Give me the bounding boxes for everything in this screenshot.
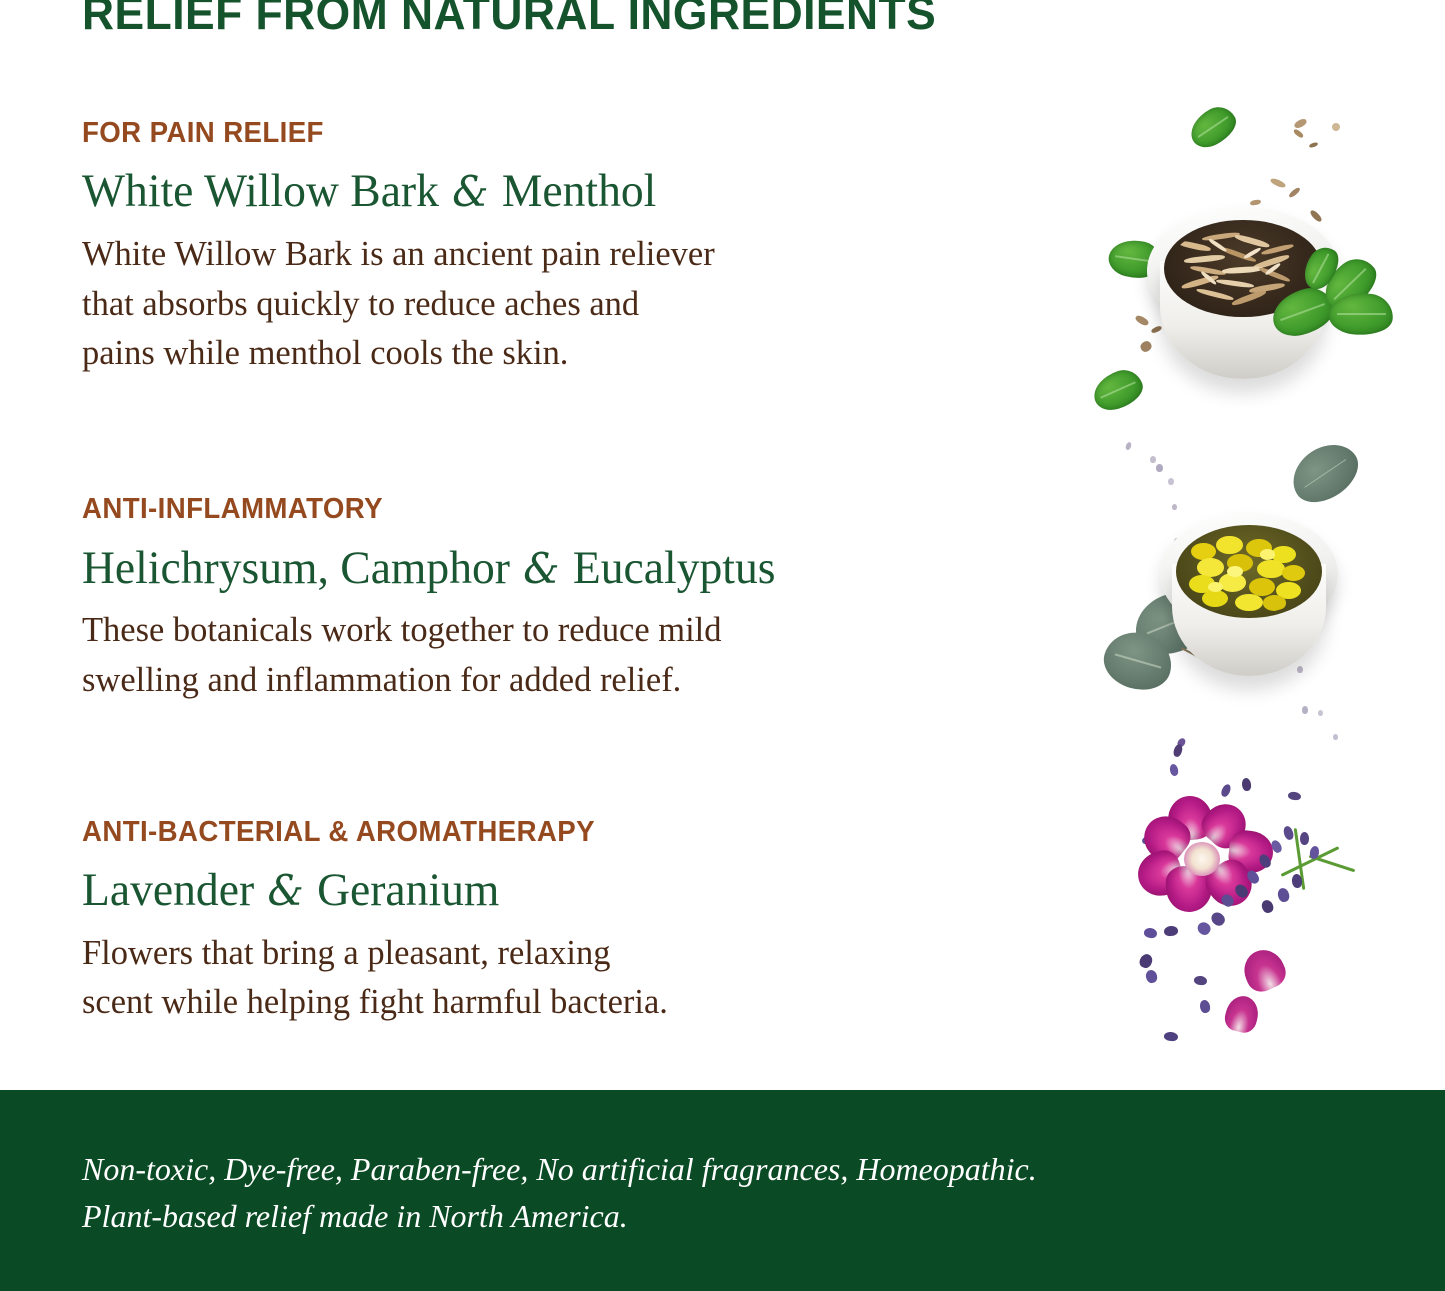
ingredient-name-lavender-geranium: Lavender & Geranium — [82, 865, 1013, 916]
ampersand-glyph: & — [266, 866, 306, 915]
footer-claims-text: Non-toxic, Dye-free, Paraben-free, No ar… — [82, 1146, 1037, 1241]
lavender-stem — [1294, 828, 1306, 890]
description-line: that absorbs quickly to reduce aches and — [82, 279, 998, 329]
section-description-pain-relief: White Willow Bark is an ancient pain rel… — [82, 229, 998, 378]
eucalyptus-leaf-icon — [1098, 625, 1179, 698]
mint-leaf-icon — [1315, 250, 1385, 317]
lavender-bud-icon — [1302, 706, 1308, 714]
lavender-bud-icon — [1150, 456, 1156, 463]
ingredient-section-pain-relief: FOR PAIN RELIEF White Willow Bark & Ment… — [82, 118, 1042, 378]
description-line: pains while menthol cools the skin. — [82, 328, 998, 378]
mint-leaf-icon — [1184, 101, 1242, 154]
ingredient-name-part: Helichrysum, Camphor — [82, 542, 521, 594]
eucalyptus-leaf-icon — [1282, 433, 1368, 514]
lavender-bud-icon — [1143, 927, 1158, 939]
lavender-bud-icon — [1174, 538, 1179, 545]
lavender-bud-icon — [1169, 763, 1179, 776]
flower-petal — [1227, 829, 1275, 875]
image-helichrysum-bowl — [1092, 438, 1445, 760]
lavender-bud-icon — [1195, 920, 1213, 937]
bark-bit — [1309, 142, 1319, 149]
lavender-bud-icon — [1172, 504, 1177, 510]
description-line: White Willow Bark is an ancient pain rel… — [82, 229, 998, 279]
bark-bit — [1293, 117, 1308, 129]
image-willow-bark-bowl — [1085, 95, 1445, 440]
lavender-bud-icon — [1172, 743, 1184, 758]
section-description-anti-bacterial: Flowers that bring a pleasant, relaxing … — [82, 928, 998, 1027]
lavender-bud-icon — [1144, 969, 1158, 985]
bowl-body — [1160, 261, 1325, 379]
image-geranium-lavender — [1102, 742, 1445, 1060]
bowl-rim — [1147, 207, 1339, 335]
section-description-anti-inflammatory: These botanicals work together to reduce… — [82, 605, 998, 704]
lavender-stem — [1281, 846, 1340, 877]
section-eyebrow-anti-bacterial: ANTI-BACTERIAL & AROMATHERAPY — [82, 817, 1013, 848]
lavender-bud-icon — [1245, 868, 1261, 885]
bark-bit — [1332, 123, 1340, 131]
description-line: These botanicals work together to reduce… — [82, 605, 998, 655]
ingredient-name-part: Lavender — [82, 864, 266, 916]
bark-bit — [1139, 339, 1154, 354]
flower-petal — [1199, 853, 1260, 914]
fallen-petal — [1222, 993, 1262, 1036]
lavender-bud-icon — [1282, 825, 1295, 841]
description-line: Flowers that bring a pleasant, relaxing — [82, 928, 998, 978]
mint-leaf-icon — [1268, 283, 1339, 341]
ampersand-glyph: & — [450, 167, 490, 216]
lavender-bud-icon — [1291, 874, 1302, 889]
ampersand-glyph: & — [521, 544, 561, 593]
lavender-bud-icon — [1241, 777, 1252, 791]
bowl-icon — [1160, 513, 1338, 635]
section-eyebrow-pain-relief: FOR PAIN RELIEF — [82, 118, 1013, 149]
bowl-icon — [1147, 207, 1339, 335]
footer-line: Non-toxic, Dye-free, Paraben-free, No ar… — [82, 1146, 1037, 1193]
bark-bit — [1293, 128, 1305, 139]
geranium-flower-icon — [1138, 800, 1278, 920]
flower-center — [1184, 842, 1220, 876]
ingredient-name-part: Eucalyptus — [562, 542, 776, 594]
mint-leaf-icon — [1327, 290, 1395, 338]
lavender-bud-icon — [1199, 999, 1211, 1014]
bowl-rim — [1160, 513, 1338, 635]
bowl-interior — [1176, 525, 1322, 618]
ingredients-infographic: RELIEF FROM NATURAL INGREDIENTS FOR PAIN… — [0, 0, 1445, 1291]
ingredient-name-part: Menthol — [490, 165, 656, 217]
lavender-bud-icon — [1257, 852, 1273, 869]
flower-petal — [1195, 795, 1254, 854]
helichrysum-fill — [1180, 529, 1317, 614]
mint-leaf-icon — [1089, 365, 1148, 415]
lavender-bud-icon — [1168, 478, 1174, 485]
lavender-bud-icon — [1260, 898, 1275, 914]
ingredient-name-part: Geranium — [306, 864, 500, 916]
bowl-body — [1172, 564, 1325, 676]
lavender-bud-icon — [1219, 892, 1236, 909]
lavender-bud-icon — [1276, 887, 1290, 903]
lavender-stem — [1309, 855, 1356, 873]
lavender-bud-icon — [1220, 783, 1233, 798]
flower-petal — [1165, 865, 1213, 913]
bark-bit — [1163, 318, 1172, 323]
bark-bit — [1288, 186, 1301, 198]
description-line: scent while helping fight harmful bacter… — [82, 977, 998, 1027]
lavender-bud-icon — [1125, 441, 1132, 450]
lavender-bud-icon — [1318, 710, 1323, 716]
flower-petal — [1166, 794, 1214, 842]
eucalyptus-stem — [1181, 647, 1201, 659]
footer-band: Non-toxic, Dye-free, Paraben-free, No ar… — [0, 1090, 1445, 1291]
bowl-interior — [1164, 220, 1321, 317]
ingredients-list: FOR PAIN RELIEF White Willow Bark & Ment… — [82, 118, 1042, 1027]
lavender-bud-icon — [1309, 845, 1320, 859]
lavender-bud-icon — [1300, 832, 1309, 845]
lavender-bud-icon — [1333, 734, 1338, 740]
mint-leaf-icon — [1296, 241, 1345, 294]
bark-bit — [1309, 209, 1323, 223]
ingredient-name-part: White Willow Bark — [82, 165, 450, 217]
lavender-bud-icon — [1209, 910, 1227, 928]
lavender-bud-icon — [1297, 666, 1303, 673]
ingredient-name-helichrysum-camphor-eucalyptus: Helichrysum, Camphor & Eucalyptus — [82, 543, 1013, 594]
bark-bit — [1269, 177, 1286, 189]
bark-bit — [1250, 199, 1262, 206]
lavender-bud-icon — [1270, 839, 1284, 855]
ingredient-section-anti-inflammatory: ANTI-INFLAMMATORY Helichrysum, Camphor &… — [82, 494, 1042, 704]
eucalyptus-leaf-icon — [1126, 582, 1220, 665]
flower-petal — [1132, 846, 1187, 901]
lavender-bud-icon — [1164, 1031, 1179, 1041]
bark-bit — [1134, 314, 1150, 327]
footer-line: Plant-based relief made in North America… — [82, 1193, 1037, 1240]
lavender-bud-icon — [1156, 464, 1163, 472]
lavender-bud-icon — [1193, 975, 1207, 986]
lavender-bud-icon — [1176, 737, 1187, 748]
page-title: RELIEF FROM NATURAL INGREDIENTS — [82, 0, 936, 40]
ingredient-section-anti-bacterial: ANTI-BACTERIAL & AROMATHERAPY Lavender &… — [82, 817, 1042, 1027]
lavender-bud-icon — [1138, 952, 1155, 970]
lavender-bud-icon — [1164, 925, 1179, 936]
flower-petal — [1135, 807, 1197, 869]
lavender-bud-icon — [1141, 835, 1155, 846]
lavender-bud-icon — [1233, 882, 1250, 900]
lavender-bud-icon — [1288, 791, 1302, 801]
mint-leaf-icon — [1105, 234, 1165, 283]
willow-bark-fill — [1169, 224, 1317, 313]
bark-bit — [1150, 325, 1162, 334]
fallen-petal — [1238, 944, 1291, 997]
ingredient-name-willow-menthol: White Willow Bark & Menthol — [82, 166, 1013, 217]
section-eyebrow-anti-inflammatory: ANTI-INFLAMMATORY — [82, 494, 1013, 525]
description-line: swelling and inflammation for added reli… — [82, 655, 998, 705]
